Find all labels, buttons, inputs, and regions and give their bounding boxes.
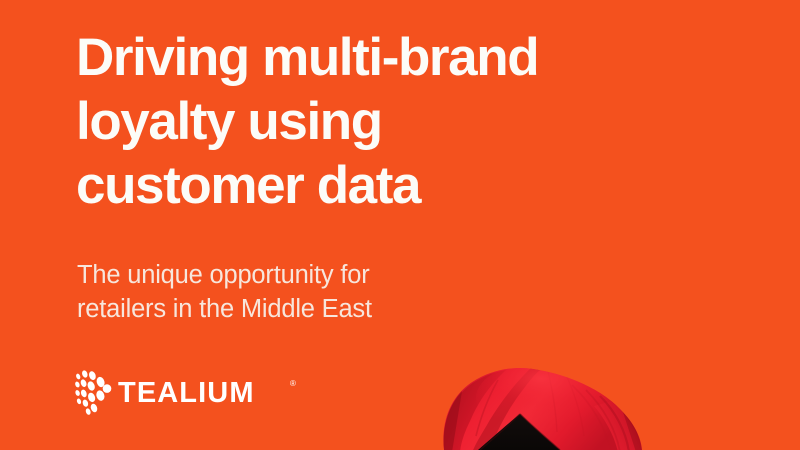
tealium-dot-fan-icon xyxy=(74,367,112,419)
tealium-wordmark-text: TEALIUM xyxy=(118,377,255,409)
page-subtitle: The unique opportunity for retailers in … xyxy=(77,258,537,326)
page-title: Driving multi-brand loyalty using custom… xyxy=(76,26,676,218)
headline-line-3: customer data xyxy=(76,154,676,218)
tealium-wordmark: TEALIUM ® xyxy=(118,376,304,410)
trademark-symbol: ® xyxy=(290,379,296,388)
tealium-logo: TEALIUM ® xyxy=(74,367,304,419)
turban-shape xyxy=(443,360,642,450)
tealium-wordmark-icon: TEALIUM ® xyxy=(118,376,304,410)
subtitle-line-2: retailers in the Middle East xyxy=(77,292,537,326)
cover-page: Cropped photograph of a person's head we… xyxy=(0,0,800,450)
headline-line-1: Driving multi-brand xyxy=(76,26,676,90)
subtitle-line-1: The unique opportunity for xyxy=(77,258,537,292)
headline-line-2: loyalty using xyxy=(76,90,676,154)
hair-shape xyxy=(478,414,560,450)
